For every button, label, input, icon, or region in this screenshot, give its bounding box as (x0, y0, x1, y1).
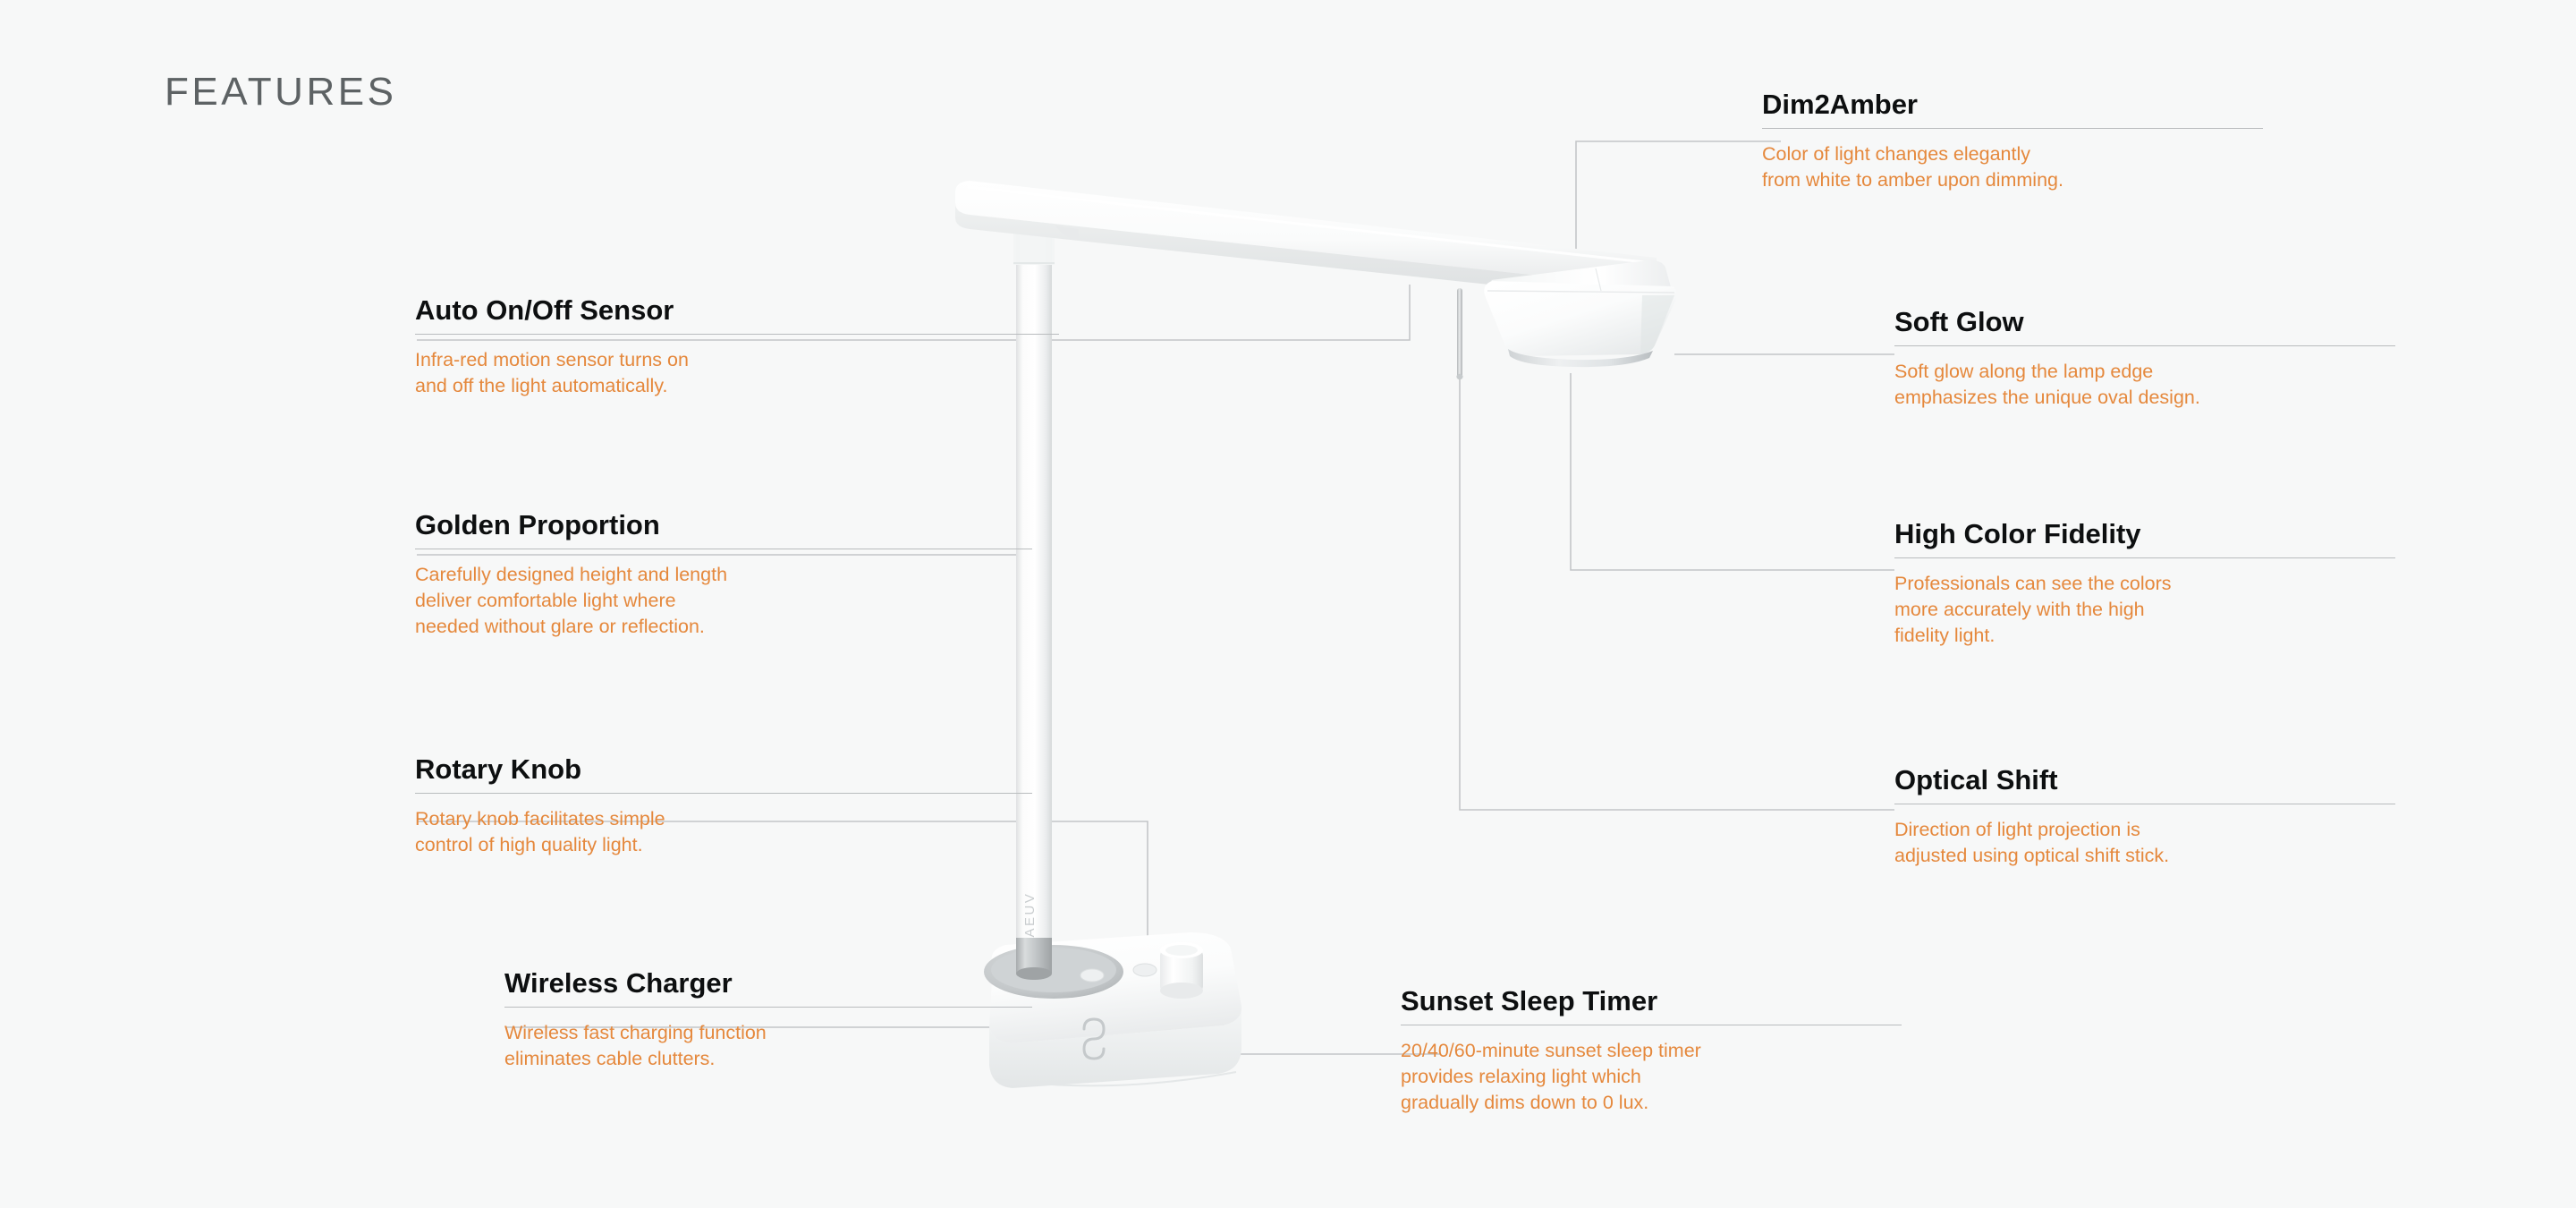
features-diagram: BAEUV (0, 0, 2576, 1208)
wireless-charging-icon (1084, 1019, 1104, 1059)
feature-body: Soft glow along the lamp edge emphasizes… (1894, 359, 2395, 411)
feature-rule (415, 793, 1032, 794)
feature-auto-on-off-sensor: Auto On/Off Sensor Infra-red motion sens… (415, 295, 1059, 399)
feature-heading: Golden Proportion (415, 510, 1032, 540)
feature-heading: Optical Shift (1894, 765, 2395, 795)
stem-brand-mark: BAEUV (1022, 892, 1038, 949)
feature-body: Carefully designed height and length del… (415, 562, 1032, 639)
feature-golden-proportion: Golden Proportion Carefully designed hei… (415, 510, 1032, 639)
leader-sunset-sleep-timer (1106, 983, 1440, 1054)
feature-soft-glow: Soft Glow Soft glow along the lamp edge … (1894, 307, 2395, 411)
feature-heading: Wireless Charger (504, 968, 1032, 999)
feature-sunset-sleep-timer: Sunset Sleep Timer 20/40/60-minute sunse… (1401, 986, 1902, 1115)
feature-body: Rotary knob facilitates simple control o… (415, 806, 1032, 858)
page-title: FEATURES (165, 70, 396, 115)
feature-rule (1894, 804, 2395, 804)
feature-body: Wireless fast charging function eliminat… (504, 1020, 1032, 1072)
feature-dim2amber: Dim2Amber Color of light changes elegant… (1762, 89, 2263, 193)
feature-heading: Auto On/Off Sensor (415, 295, 1059, 326)
feature-body: Professionals can see the colors more ac… (1894, 571, 2395, 648)
feature-rule (415, 549, 1032, 549)
feature-heading: Dim2Amber (1762, 89, 2263, 120)
feature-heading: Rotary Knob (415, 754, 1032, 785)
feature-heading: Sunset Sleep Timer (1401, 986, 1902, 1017)
feature-body: 20/40/60-minute sunset sleep timer provi… (1401, 1038, 1902, 1115)
rotary-knob-hardware (1160, 942, 1203, 999)
lamp-head (1484, 260, 1676, 367)
feature-rule (504, 1007, 1032, 1008)
leader-optical-shift (1460, 309, 1894, 810)
lamp-arm (955, 181, 1657, 302)
touch-button-1 (1080, 969, 1104, 982)
feature-heading: High Color Fidelity (1894, 519, 2395, 549)
leader-high-color-fidelity (1571, 373, 1894, 570)
feature-rule (1894, 345, 2395, 346)
feature-rule (415, 334, 1059, 335)
feature-rule (1894, 557, 2395, 558)
feature-body: Direction of light projection is adjuste… (1894, 817, 2395, 869)
leader-dim2amber (1576, 141, 1781, 333)
touch-button-2 (1133, 964, 1157, 976)
feature-rotary-knob: Rotary Knob Rotary knob facilitates simp… (415, 754, 1032, 858)
feature-body: Color of light changes elegantly from wh… (1762, 141, 2263, 193)
feature-optical-shift: Optical Shift Direction of light project… (1894, 765, 2395, 869)
feature-body: Infra-red motion sensor turns on and off… (415, 347, 1059, 399)
feature-wireless-charger: Wireless Charger Wireless fast charging … (504, 968, 1032, 1072)
feature-heading: Soft Glow (1894, 307, 2395, 337)
soft-glow-edge (1508, 349, 1653, 367)
feature-rule (1401, 1025, 1902, 1025)
optical-shift-stick (1456, 288, 1462, 379)
feature-high-color-fidelity: High Color Fidelity Professionals can se… (1894, 519, 2395, 648)
feature-rule (1762, 128, 2263, 129)
